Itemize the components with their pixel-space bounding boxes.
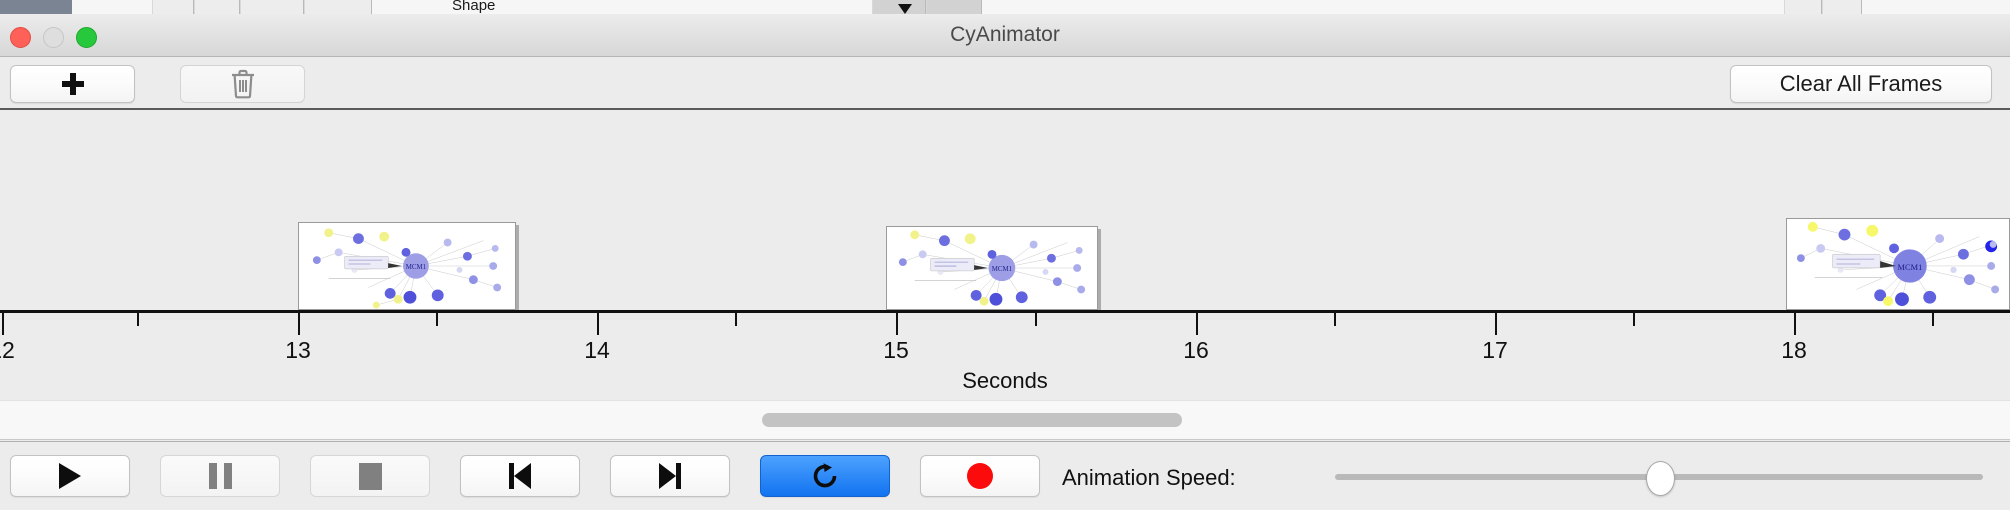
skip-to-start-button[interactable] xyxy=(460,455,580,497)
background-tab xyxy=(1822,0,1862,14)
cyanimator-window: Shape CyAnimator Clear All Frames xyxy=(0,0,2010,510)
pause-button[interactable] xyxy=(160,455,280,497)
loop-button[interactable] xyxy=(760,455,890,497)
axis-tick-label: 13 xyxy=(285,337,311,364)
background-tab xyxy=(926,0,982,14)
slider-thumb[interactable] xyxy=(1646,461,1675,496)
title-bar: CyAnimator xyxy=(0,14,2010,57)
frames-timeline[interactable]: MCM1 xyxy=(0,110,2010,310)
timeline-scrollbar[interactable] xyxy=(0,400,2010,440)
axis-tick-label: 12 xyxy=(0,337,15,364)
background-marker-icon xyxy=(898,4,912,14)
stop-icon xyxy=(359,463,382,490)
axis-tick-minor xyxy=(137,313,139,326)
window-title: CyAnimator xyxy=(0,23,2010,47)
axis-tick-major xyxy=(2,313,4,335)
skip-to-end-button[interactable] xyxy=(610,455,730,497)
axis-tick-major xyxy=(1794,313,1796,335)
delete-frame-button[interactable] xyxy=(180,65,305,103)
time-axis: 12131415161718 Seconds xyxy=(0,310,2010,400)
plus-icon xyxy=(62,73,84,95)
background-tab xyxy=(194,0,240,14)
axis-tick-major xyxy=(597,313,599,335)
record-button[interactable] xyxy=(920,455,1040,497)
background-window-strip: Shape xyxy=(0,0,2010,15)
axis-tick-label: 18 xyxy=(1781,337,1807,364)
timeline-frame-thumbnail[interactable]: MCM1 xyxy=(1786,218,2010,310)
axis-tick-label: 15 xyxy=(883,337,909,364)
add-frame-button[interactable] xyxy=(10,65,135,103)
timeline-frame-thumbnail[interactable]: MCM1 xyxy=(886,226,1098,310)
frames-toolbar: Clear All Frames xyxy=(0,57,2010,110)
timeline-frame-thumbnail[interactable]: MCM1 xyxy=(298,222,516,310)
clear-all-frames-label: Clear All Frames xyxy=(1780,71,1943,97)
axis-tick-minor xyxy=(436,313,438,326)
background-tab xyxy=(1784,0,1822,14)
axis-tick-major xyxy=(1495,313,1497,335)
background-window-accent xyxy=(0,0,72,14)
network-thumbnail-graphic: MCM1 xyxy=(299,223,515,309)
clear-all-frames-button[interactable]: Clear All Frames xyxy=(1730,65,1992,103)
skip-forward-icon xyxy=(657,463,683,489)
stop-button[interactable] xyxy=(310,455,430,497)
axis-tick-major xyxy=(1196,313,1198,335)
playback-toolbar: Animation Speed: xyxy=(0,441,2010,510)
background-window-label: Shape xyxy=(452,0,495,14)
svg-text:MCM1: MCM1 xyxy=(1898,263,1923,272)
axis-tick-minor xyxy=(735,313,737,326)
background-tab xyxy=(304,0,372,14)
axis-tick-major xyxy=(896,313,898,335)
svg-text:MCM1: MCM1 xyxy=(992,266,1013,273)
svg-text:MCM1: MCM1 xyxy=(406,264,427,271)
network-thumbnail-graphic: MCM1 xyxy=(1787,219,2009,309)
axis-tick-minor xyxy=(1633,313,1635,326)
axis-tick-major xyxy=(298,313,300,335)
axis-tick-minor xyxy=(1035,313,1037,326)
play-button[interactable] xyxy=(10,455,130,497)
axis-tick-minor xyxy=(1932,313,1934,326)
background-tab xyxy=(240,0,304,14)
axis-tick-label: 16 xyxy=(1183,337,1209,364)
trash-icon xyxy=(230,69,256,99)
loop-icon xyxy=(810,461,840,491)
animation-speed-label: Animation Speed: xyxy=(1062,465,1236,491)
axis-tick-label: 17 xyxy=(1482,337,1508,364)
record-icon xyxy=(967,463,993,489)
play-icon xyxy=(59,463,81,489)
background-tab xyxy=(152,0,194,14)
axis-tick-minor xyxy=(1334,313,1336,326)
axis-tick-label: 14 xyxy=(584,337,610,364)
scrollbar-thumb[interactable] xyxy=(762,413,1182,427)
network-thumbnail-graphic: MCM1 xyxy=(887,227,1097,309)
axis-title: Seconds xyxy=(0,368,2010,394)
axis-line xyxy=(0,310,2010,313)
skip-back-icon xyxy=(507,463,533,489)
animation-speed-slider[interactable] xyxy=(1335,474,1983,480)
pause-icon xyxy=(209,463,232,489)
